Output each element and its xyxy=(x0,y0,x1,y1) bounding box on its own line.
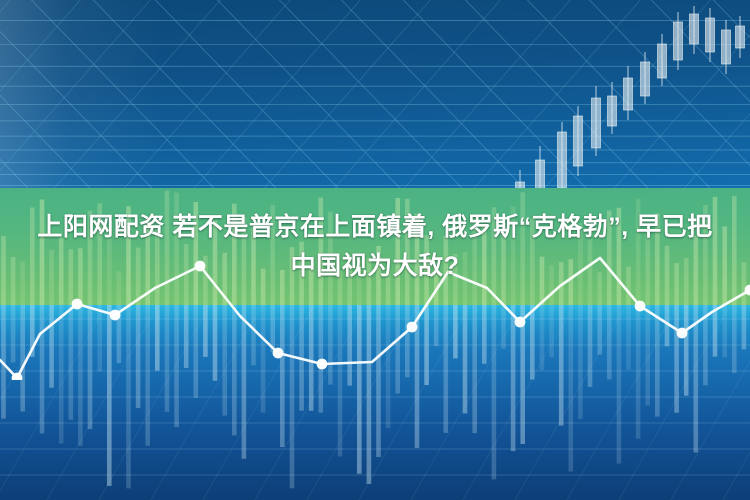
banner-image: 上阳网配资 若不是普京在上面镇着, 俄罗斯“克格勃”, 早已把 中国视为大敌? xyxy=(0,0,750,500)
trend-polyline-chart xyxy=(0,250,750,380)
